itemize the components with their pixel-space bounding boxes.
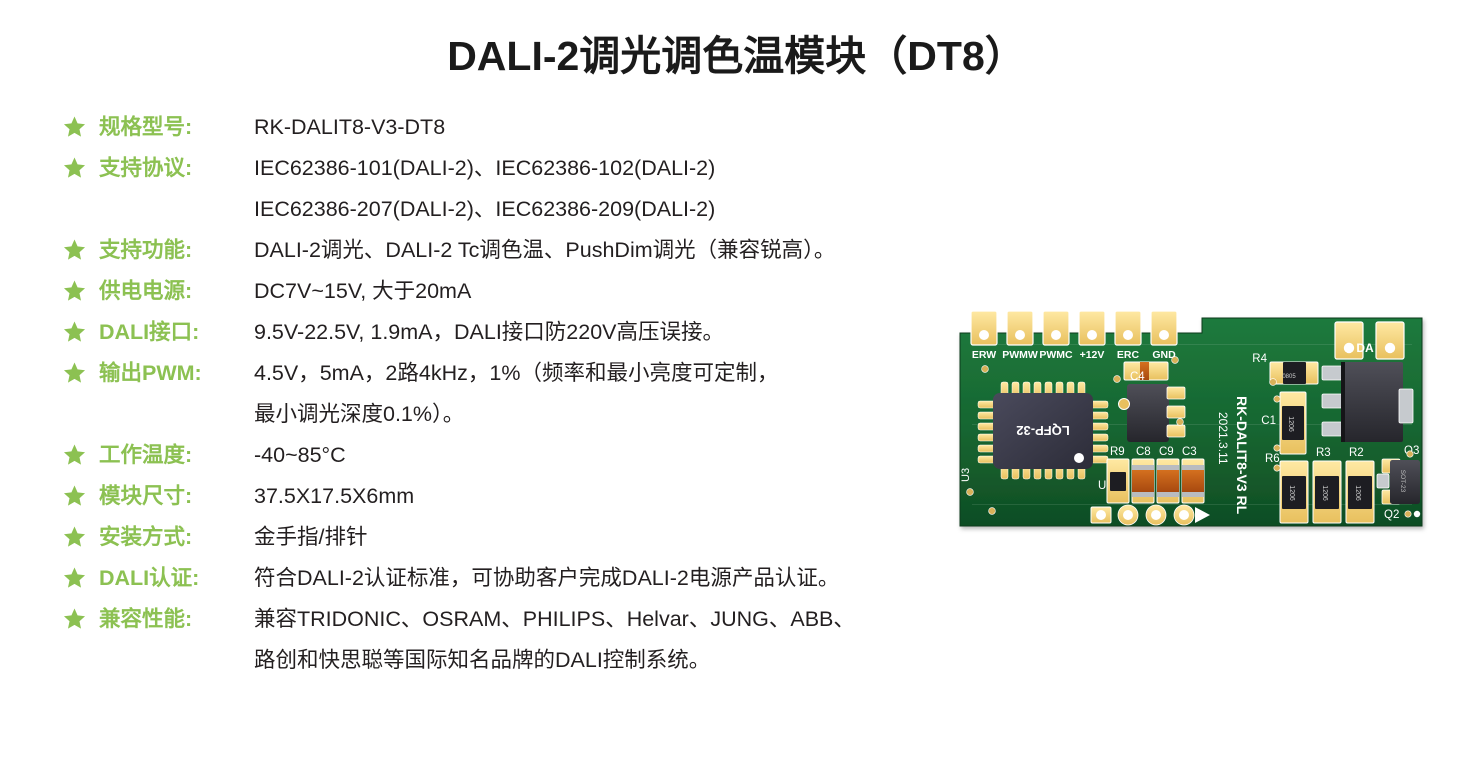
spec-label-pwm-output: 输出PWM: [99,358,251,388]
pcb-pin-label-12v: +12V [1080,349,1105,361]
star-icon-cell [63,358,99,384]
pcb-designator-r6: R6 [1265,453,1280,465]
star-icon [63,525,86,548]
spec-value-protocol-line1: IEC62386-101(DALI-2)、IEC62386-102(DALI-2… [251,153,1023,183]
pcb-pin-label-erc: ERC [1117,349,1140,361]
spec-value-mounting-method: 金手指/排针 [251,522,1023,552]
spec-value-functions: DALI-2调光、DALI-2 Tc调色温、PushDim调光（兼容锐高）。 [251,235,1023,265]
pcb-designator-c8: C8 [1136,446,1151,458]
spec-value-dali-interface: 9.5V-22.5V, 1.9mA，DALI接口防220V高压误接。 [251,317,1023,347]
spec-row-module-dimensions: 模块尺寸: 37.5X17.5X6mm [63,481,1023,522]
star-icon-cell [63,153,99,179]
pcb-designator-r3: R3 [1316,447,1331,459]
spec-row-model: 规格型号: RK-DALIT8-V3-DT8 [63,112,1023,153]
star-icon-cell [63,317,99,343]
pcb-designator-c4: C4 [1130,371,1145,383]
pcb-pin-label-pwmc: PWMC [1039,349,1073,361]
star-icon [63,279,86,302]
spec-row-power-supply: 供电电源: DC7V~15V, 大于20mA [63,276,1023,317]
pcb-designator-u3: U3 [960,468,972,482]
spec-label-compatibility: 兼容性能: [99,604,251,634]
pcb-mcu-lqfp32: LQFP-32 [978,382,1108,479]
spec-row-compatibility: 兼容性能: 兼容TRIDONIC、OSRAM、PHILIPS、Helvar、JU… [63,604,1023,645]
spec-value-model: RK-DALIT8-V3-DT8 [251,112,1023,142]
spec-label-dali-certification: DALI认证: [99,563,251,593]
star-icon-cell [63,563,99,589]
spec-label-dali-interface: DALI接口: [99,317,251,347]
spec-row-functions: 支持功能: DALI-2调光、DALI-2 Tc调色温、PushDim调光（兼容… [63,235,1023,276]
spec-value-power-supply: DC7V~15V, 大于20mA [251,276,1023,306]
star-icon [63,361,86,384]
pcb-mcu-marking: LQFP-32 [1016,423,1069,438]
pcb-resistor-array-bottom: 1206 1206 1206 [1274,461,1374,523]
star-icon [63,607,86,630]
spec-label-operating-temperature: 工作温度: [99,440,251,470]
star-icon [63,115,86,138]
spec-label-functions: 支持功能: [99,235,251,265]
spec-row-compatibility-continuation: 路创和快思聪等国际知名品牌的DALI控制系统。 [63,645,1023,686]
star-icon-cell [63,481,99,507]
spec-row-protocol: 支持协议: IEC62386-101(DALI-2)、IEC62386-102(… [63,153,1023,194]
page-title: DALI-2调光调色温模块（DT8） [0,22,1473,82]
spec-row-mounting-method: 安装方式: 金手指/排针 [63,522,1023,563]
spec-value-pwm-output-line2: 最小调光深度0.1%）。 [251,399,1023,429]
star-icon [63,156,86,179]
spec-row-pwm-output-continuation: 最小调光深度0.1%）。 [63,399,1023,440]
star-icon [63,484,86,507]
pcb-marking-r3-package: 1206 [1321,485,1328,501]
pcb-designator-c3: C3 [1182,446,1197,458]
pcb-dali-pad-label: DA [1356,341,1374,355]
spec-row-dali-certification: DALI认证: 符合DALI-2认证标准，可协助客户完成DALI-2电源产品认证… [63,563,1023,604]
pcb-designator-r4: R4 [1252,353,1267,365]
pcb-silkscreen-part-number: RK-DALIT8-V3 RL [1234,396,1250,515]
spec-value-pwm-output-line1: 4.5V，5mA，2路4kHz，1%（频率和最小亮度可定制， [251,358,1023,388]
pcb-marking-c1-package: 1206 [1287,416,1294,432]
star-icon [63,566,86,589]
star-icon-cell [63,276,99,302]
pcb-marking-r2-package: 1206 [1354,485,1361,501]
star-icon [63,443,86,466]
pcb-designator-c9: C9 [1159,446,1174,458]
star-icon-cell [63,522,99,548]
spec-label-module-dimensions: 模块尺寸: [99,481,251,511]
star-icon [63,238,86,261]
spec-row-operating-temperature: 工作温度: -40~85°C [63,440,1023,481]
pcb-marking-r6-package: 1206 [1288,485,1295,501]
star-icon-cell [63,235,99,261]
spec-value-module-dimensions: 37.5X17.5X6mm [251,481,1023,511]
spec-row-protocol-continuation: IEC62386-207(DALI-2)、IEC62386-209(DALI-2… [63,194,1023,235]
pcb-designator-q2: Q2 [1384,509,1399,521]
star-icon [63,320,86,343]
star-icon-cell [63,440,99,466]
star-icon-cell [63,112,99,138]
specification-list: 规格型号: RK-DALIT8-V3-DT8 支持协议: IEC62386-10… [63,112,1023,686]
spec-value-compatibility-line1: 兼容TRIDONIC、OSRAM、PHILIPS、Helvar、JUNG、ABB… [251,604,1023,634]
pcb-designator-c1: C1 [1261,415,1276,427]
pcb-designator-r2: R2 [1349,447,1364,459]
pcb-designator-r9: R9 [1110,446,1125,458]
pcb-silkscreen-date: 2021.3.11 [1216,412,1230,465]
spec-value-dali-certification: 符合DALI-2认证标准，可协助客户完成DALI-2电源产品认证。 [251,563,1023,593]
spec-label-model: 规格型号: [99,112,251,142]
pcb-pin-label-erw: ERW [972,349,996,361]
svg-text:SOT-23: SOT-23 [1399,470,1406,493]
spec-label-mounting-method: 安装方式: [99,522,251,552]
spec-row-dali-interface: DALI接口: 9.5V-22.5V, 1.9mA，DALI接口防220V高压误… [63,317,1023,358]
pcb-pin-label-pwmw: PWMW [1002,349,1038,361]
spec-row-pwm-output: 输出PWM: 4.5V，5mA，2路4kHz，1%（频率和最小亮度可定制， [63,358,1023,399]
spec-value-compatibility-line2: 路创和快思聪等国际知名品牌的DALI控制系统。 [251,645,1023,675]
spec-label-protocol: 支持协议: [99,153,251,183]
spec-label-power-supply: 供电电源: [99,276,251,306]
star-icon-cell [63,604,99,630]
pcb-marking-r4-package: 0805 [1282,374,1296,380]
pcb-board-image: ERW PWMW PWMC +12V ERC GND DA [952,304,1432,544]
spec-value-protocol-line2: IEC62386-207(DALI-2)、IEC62386-209(DALI-2… [251,194,1023,224]
spec-value-operating-temperature: -40~85°C [251,440,1023,470]
